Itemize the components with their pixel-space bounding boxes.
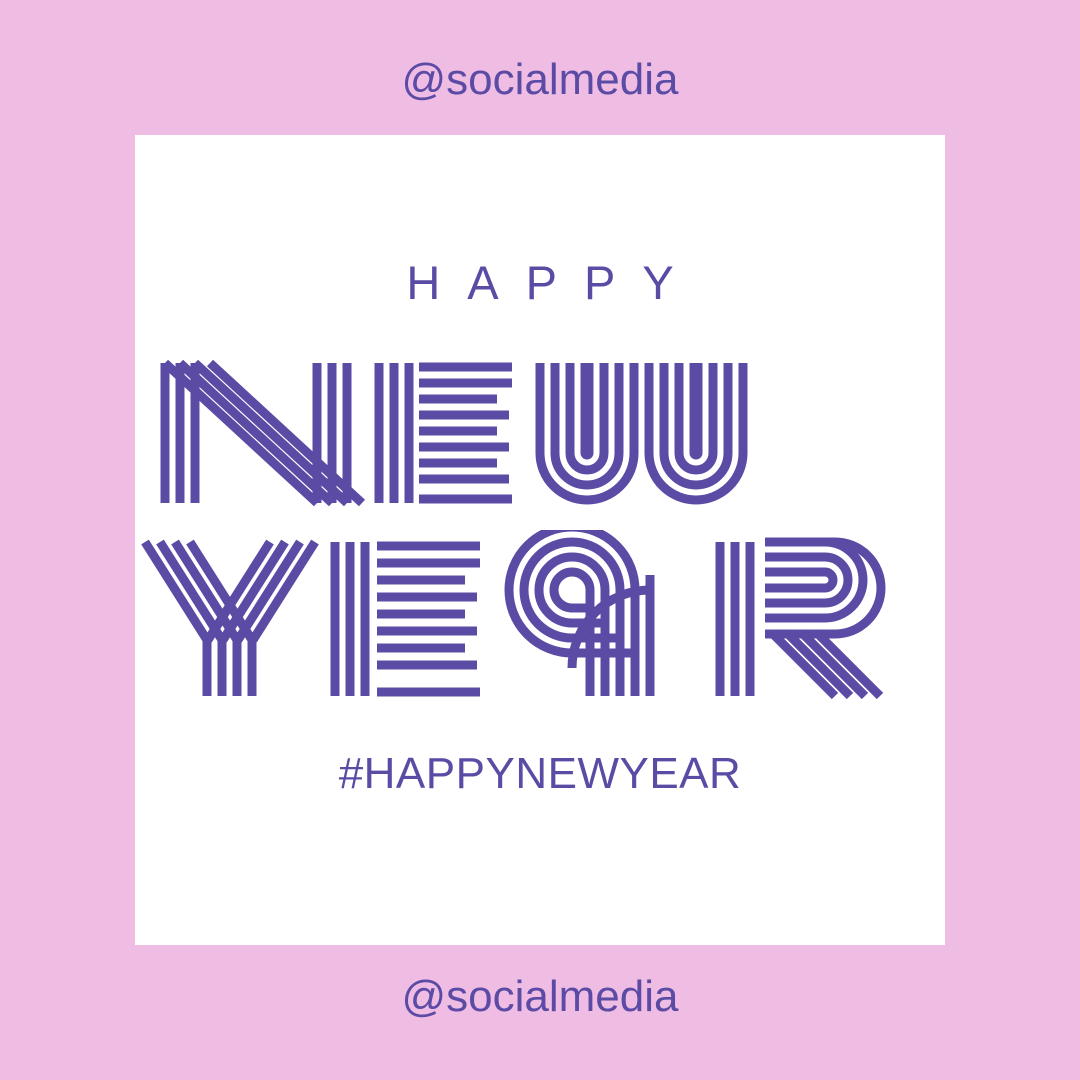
bottom-social-handle: @socialmedia — [0, 975, 1080, 1019]
hashtag-text: #HAPPYNEWYEAR — [135, 752, 945, 796]
greeting-text: HAPPY — [135, 259, 945, 306]
poster-canvas: @socialmedia HAPPY — [0, 0, 1080, 1080]
headline-word-new — [157, 353, 927, 508]
headline-word-year — [135, 530, 945, 705]
top-social-handle: @socialmedia — [0, 58, 1080, 102]
content-card: HAPPY — [135, 135, 945, 945]
